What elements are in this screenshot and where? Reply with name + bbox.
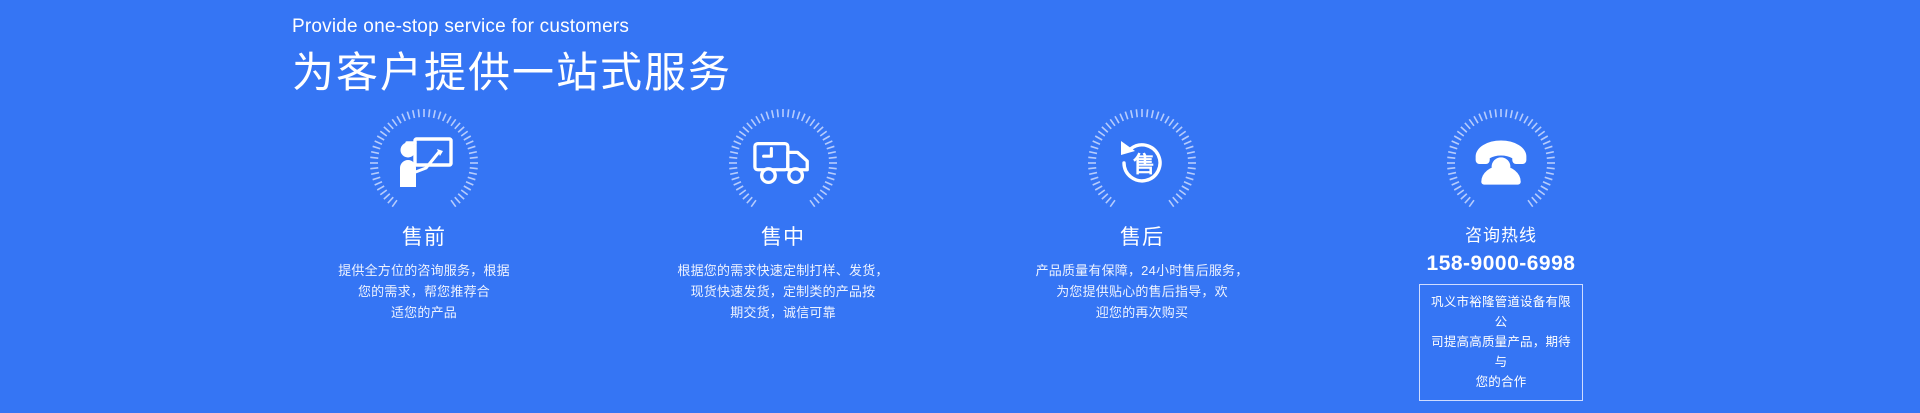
- svg-text:售: 售: [1133, 152, 1155, 177]
- banner-subtitle: Provide one-stop service for customers: [292, 14, 732, 40]
- icon-wrapper: [723, 108, 843, 218]
- company-note-box: 巩义市裕隆管道设备有限公 司提高高质量产品，期待与 您的合作: [1419, 284, 1583, 401]
- service-banner: Provide one-stop service for customers 为…: [0, 0, 1920, 413]
- column-title: 售中: [761, 224, 805, 252]
- column-description: 产品质量有保障，24小时售后服务， 为您提供贴心的售后指导，欢 迎您的再次购买: [1036, 260, 1249, 323]
- icon-wrapper: [1441, 108, 1561, 218]
- desc-line: 为您提供贴心的售后指导，欢: [1036, 281, 1249, 302]
- icon-wrapper: 售: [1082, 108, 1202, 218]
- desc-line: 产品质量有保障，24小时售后服务，: [1036, 260, 1249, 281]
- hotline-phone-number[interactable]: 158-9000-6998: [1427, 251, 1576, 277]
- service-column-aftersale[interactable]: 售 售后 产品质量有保障，24小时售后服务， 为您提供贴心的售后指导，欢 迎您的…: [1008, 108, 1276, 323]
- desc-line: 期交货，诚信可靠: [677, 302, 888, 323]
- desc-line: 迎您的再次购买: [1036, 302, 1249, 323]
- icon-wrapper: [364, 108, 484, 218]
- desc-line: 现货快速发货，定制类的产品按: [677, 281, 888, 302]
- desc-line: 提供全方位的咨询服务，根据: [338, 260, 510, 281]
- column-title: 售前: [402, 224, 446, 252]
- column-title: 售后: [1120, 224, 1164, 252]
- telephone-icon: [1470, 132, 1532, 194]
- after-sales-refresh-icon: 售: [1111, 132, 1173, 194]
- column-description: 提供全方位的咨询服务，根据 您的需求，帮您推荐合 适您的产品: [338, 260, 510, 323]
- heading-block: Provide one-stop service for customers 为…: [292, 14, 732, 100]
- desc-line: 适您的产品: [338, 302, 510, 323]
- service-column-duringsale[interactable]: 售中 根据您的需求快速定制打样、发货， 现货快速发货，定制类的产品按 期交货，诚…: [649, 108, 917, 323]
- desc-line: 根据您的需求快速定制打样、发货，: [677, 260, 888, 281]
- delivery-truck-icon: [752, 132, 814, 194]
- service-column-hotline[interactable]: 咨询热线 158-9000-6998 巩义市裕隆管道设备有限公 司提高高质量产品…: [1367, 108, 1635, 401]
- note-line: 您的合作: [1430, 372, 1572, 392]
- note-line: 司提高高质量产品，期待与: [1430, 332, 1572, 372]
- hotline-title: 咨询热线: [1465, 222, 1537, 250]
- service-column-presale[interactable]: 售前 提供全方位的咨询服务，根据 您的需求，帮您推荐合 适您的产品: [290, 108, 558, 323]
- presenter-board-icon: [393, 132, 455, 194]
- service-columns: 售前 提供全方位的咨询服务，根据 您的需求，帮您推荐合 适您的产品: [290, 108, 1635, 338]
- desc-line: 您的需求，帮您推荐合: [338, 281, 510, 302]
- banner-title: 为客户提供一站式服务: [292, 46, 732, 100]
- column-description: 根据您的需求快速定制打样、发货， 现货快速发货，定制类的产品按 期交货，诚信可靠: [677, 260, 888, 323]
- note-line: 巩义市裕隆管道设备有限公: [1430, 292, 1572, 332]
